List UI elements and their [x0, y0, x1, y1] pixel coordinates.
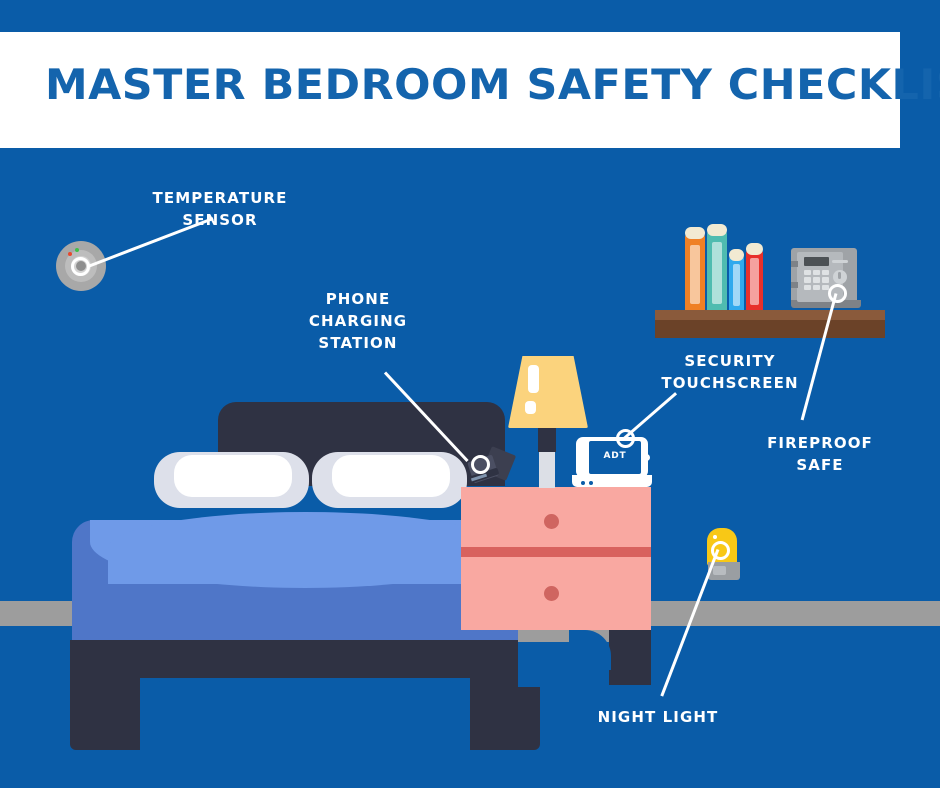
leader-dot-phone-charging-station: [471, 455, 490, 474]
shelf-top-surface: [655, 310, 885, 320]
book-red: [746, 250, 763, 310]
book-lightblue: [729, 256, 744, 310]
dock-indicator-dot-2: [589, 481, 593, 485]
shelf-front-edge: [655, 320, 885, 338]
callout-phone-charging-station: PHONE CHARGING STATION: [258, 288, 458, 354]
night-light-indicator-dot: [713, 535, 717, 539]
safe-key[interactable]: [804, 277, 811, 282]
safe-key[interactable]: [822, 277, 829, 282]
leader-dot-night-light: [711, 541, 730, 560]
sensor-led-green-icon: [75, 248, 79, 252]
book-pages-top: [707, 224, 727, 236]
nightstand-leg-gap: [518, 642, 576, 687]
infographic-canvas: MASTER BEDROOM SAFETY CHECKLIST TEMPERAT…: [0, 0, 940, 788]
callout-fireproof-safe: FIREPROOF SAFE: [720, 432, 920, 476]
bed-leg-right: [470, 678, 540, 750]
tablet-side-button[interactable]: [583, 450, 586, 462]
pillow-right: [312, 452, 467, 508]
security-touchscreen-tablet[interactable]: ADT: [572, 437, 652, 487]
safe-key[interactable]: [804, 270, 811, 275]
tablet-screen[interactable]: ADT: [589, 441, 641, 474]
nightstand-leg: [609, 630, 651, 685]
safe-dial-knob[interactable]: [833, 270, 847, 284]
nightstand-drawer-handle-bottom[interactable]: [544, 586, 559, 601]
pillow-right-inner: [332, 455, 450, 497]
safe-key[interactable]: [822, 270, 829, 275]
lamp-neck: [538, 428, 556, 452]
lamp-shade: [508, 356, 588, 428]
book-teal: [707, 231, 727, 310]
callout-temperature-sensor: TEMPERATURE SENSOR: [120, 187, 320, 231]
book-spine-panel: [750, 258, 759, 305]
safe-hinge-bottom: [791, 282, 798, 288]
safe-display-screen: [804, 257, 829, 266]
callout-security-touchscreen: SECURITY TOUCHSCREEN: [630, 350, 830, 394]
bed-blanket-top-panel: [108, 512, 503, 584]
safe-keypad[interactable]: [804, 270, 829, 290]
book-pages-top: [746, 243, 763, 255]
title-banner: MASTER BEDROOM SAFETY CHECKLIST: [0, 32, 900, 148]
nightstand-body: [461, 487, 651, 630]
lamp-highlight-upper: [528, 365, 539, 393]
leader-dot-fireproof-safe: [828, 284, 847, 303]
leader-dot-temperature-sensor: [71, 257, 90, 276]
tablet-home-button[interactable]: [643, 454, 650, 461]
page-title: MASTER BEDROOM SAFETY CHECKLIST: [45, 60, 940, 109]
book-orange: [685, 234, 705, 310]
safe-handle[interactable]: [832, 260, 848, 263]
nightstand-drawer-divider: [461, 547, 651, 557]
safe-key[interactable]: [813, 277, 820, 282]
leader-dot-security-touchscreen: [616, 429, 635, 448]
wall-shelf: [655, 223, 890, 338]
night-light-plug: [713, 566, 726, 575]
fireproof-safe-icon[interactable]: [786, 248, 861, 310]
book-spine-panel: [690, 245, 700, 304]
callout-night-light: NIGHT LIGHT: [558, 706, 758, 728]
book-spine-panel: [712, 242, 722, 304]
safe-key[interactable]: [813, 285, 820, 290]
pillow-left-inner: [174, 455, 292, 497]
book-pages-top: [685, 227, 705, 239]
book-spine-panel: [733, 264, 741, 306]
lamp-stem: [539, 452, 555, 488]
tablet-brand-label: ADT: [589, 451, 641, 461]
tablet-body: ADT: [576, 437, 648, 478]
safe-key[interactable]: [804, 285, 811, 290]
sensor-led-red-icon: [68, 252, 72, 256]
safe-hinge-top: [791, 261, 798, 267]
pillow-left: [154, 452, 309, 508]
dock-indicator-dot-1: [581, 481, 585, 485]
bed-leg-left: [70, 678, 140, 750]
lamp-highlight-lower: [525, 401, 536, 414]
nightstand-drawer-handle-top[interactable]: [544, 514, 559, 529]
book-pages-top: [729, 249, 744, 261]
nightstand: [461, 487, 651, 677]
safe-key[interactable]: [813, 270, 820, 275]
